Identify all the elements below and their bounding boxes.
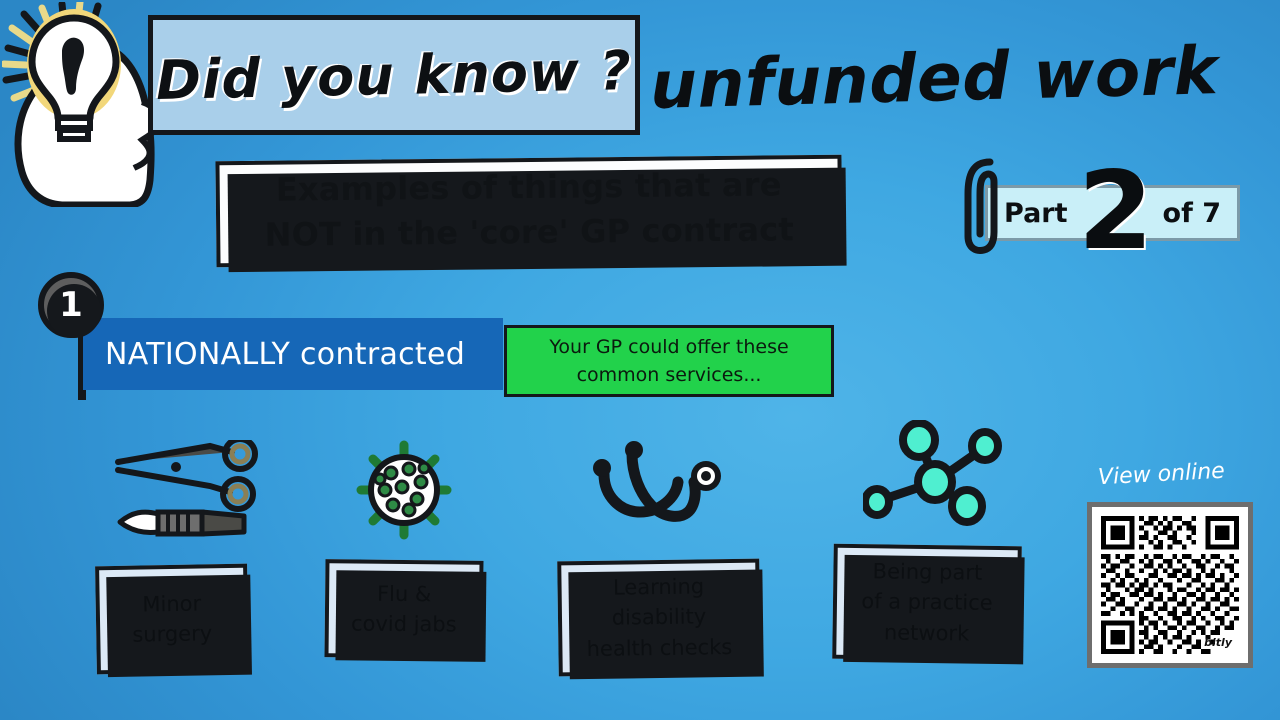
- qr-code-matrix: [1101, 516, 1239, 654]
- infographic-canvas: Did you know ? unfunded work Examples of…: [0, 0, 1280, 720]
- service-label-line: network: [884, 617, 970, 649]
- service-label-line: surgery: [132, 618, 212, 650]
- callout-line-2: NOT in the 'core' GP contract: [264, 207, 794, 258]
- service-label-line: Minor: [142, 588, 201, 619]
- service-label-line: health checks: [586, 632, 732, 664]
- service-label-practice-network: Being part of a practice network: [832, 544, 1022, 662]
- network-nodes-icon: [863, 420, 1008, 530]
- virus-icon: [347, 435, 462, 545]
- service-label-learning-disability-health-checks: Learning disability health checks: [557, 559, 761, 677]
- service-label-line: Flu &: [377, 578, 432, 609]
- paperclip-icon: [960, 148, 1012, 256]
- section-number-badge: 1: [38, 272, 104, 338]
- callout-box: Examples of things that are NOT in the '…: [215, 155, 842, 268]
- part-of-label: of 7: [1163, 198, 1221, 229]
- surgical-scissors-scalpel-icon: [114, 440, 264, 545]
- callout-line-1: Examples of things that are: [276, 162, 782, 213]
- section-title: NATIONALLY contracted: [105, 337, 465, 372]
- section-note-bar: Your GP could offer these common service…: [504, 325, 834, 397]
- section-number: 1: [59, 285, 83, 325]
- part-number: 2: [1078, 158, 1153, 266]
- service-label-flu-covid-jabs: Flu & covid jabs: [324, 559, 483, 659]
- qr-code-icon[interactable]: bitly: [1087, 502, 1253, 668]
- did-you-know-text: Did you know ?: [152, 15, 636, 135]
- service-label-minor-surgery: Minor surgery: [95, 564, 249, 675]
- page-title: unfunded work: [649, 24, 1261, 132]
- service-label-line: disability: [612, 602, 707, 634]
- view-online-caption: View online: [1097, 459, 1225, 491]
- section-note-line-2: common services...: [577, 361, 762, 390]
- qr-brand-label: bitly: [1204, 636, 1232, 649]
- section-note-line-1: Your GP could offer these: [549, 333, 788, 362]
- part-label: Part: [1004, 198, 1068, 229]
- service-label-line: of a practice: [861, 586, 993, 618]
- service-label-line: covid jabs: [351, 608, 457, 640]
- section-title-bar: NATIONALLY contracted: [83, 318, 503, 390]
- did-you-know-banner: Did you know ?: [148, 15, 640, 135]
- service-label-line: Learning: [613, 571, 705, 603]
- service-label-line: Being part: [872, 556, 982, 588]
- stethoscope-icon: [590, 440, 750, 540]
